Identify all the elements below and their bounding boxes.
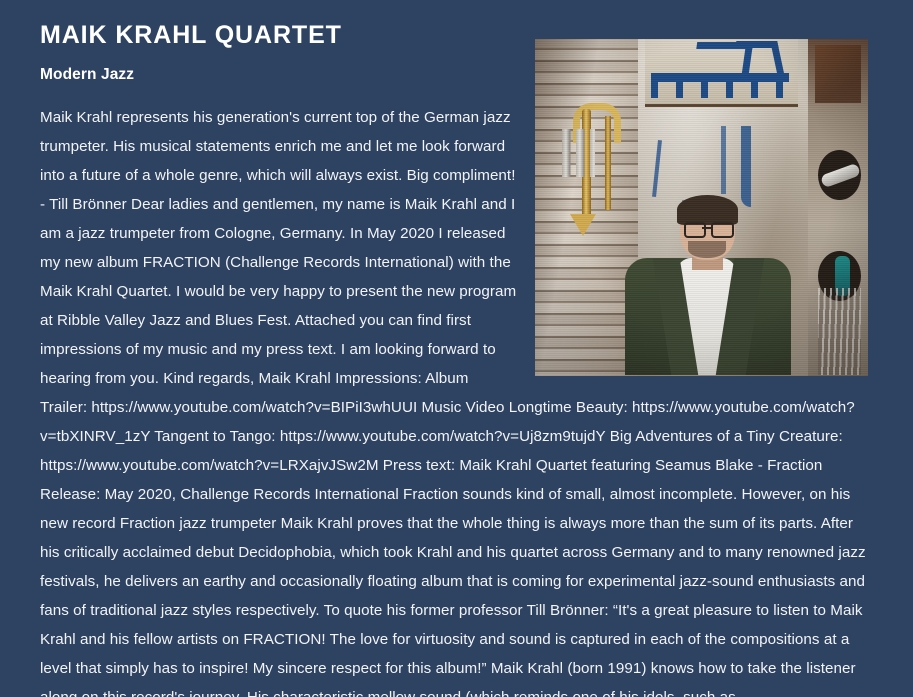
graffiti-stroke-b (741, 126, 751, 207)
press-kit-page: MAIK KRAHL QUARTET Modern Jazz (0, 0, 913, 697)
graffiti-scribble-right (736, 41, 784, 77)
trumpet-bell (570, 214, 596, 236)
rust-panel (815, 45, 862, 102)
eyeglasses-left-lens (684, 222, 706, 238)
hanging-chains (818, 288, 861, 376)
blue-graffiti-sign (645, 39, 798, 108)
trumpet-valves (562, 129, 595, 176)
trumpet-leadpipe (605, 116, 611, 210)
eyeglasses-bridge (702, 227, 711, 230)
graffiti-teeth (651, 79, 789, 99)
graffiti-stroke-c (721, 126, 726, 193)
hair (677, 195, 739, 225)
eyeglasses-right-lens (711, 222, 733, 238)
musician-figure (625, 200, 792, 375)
artist-photo (535, 39, 868, 376)
